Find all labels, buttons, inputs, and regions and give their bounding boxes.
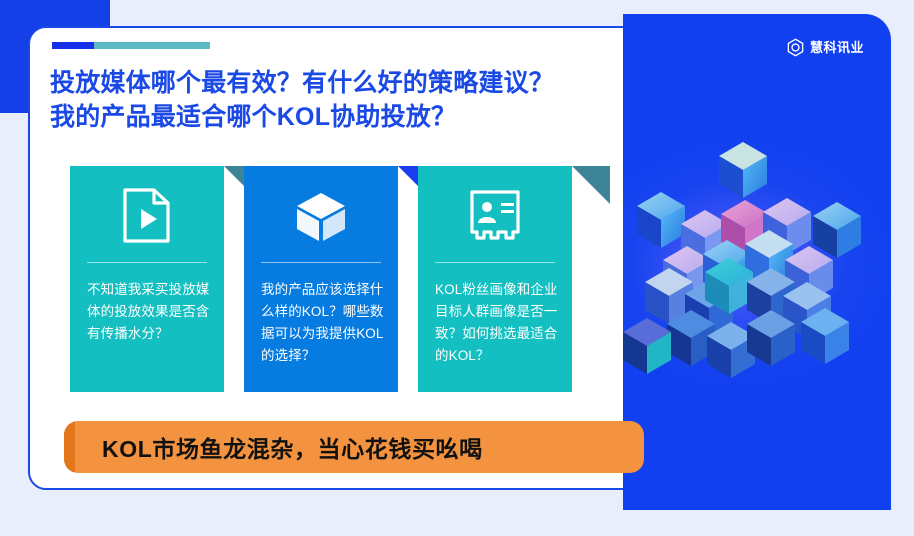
question-card-2-icon-wrap xyxy=(244,186,398,246)
accent-rule xyxy=(52,42,210,49)
question-card-3-text: KOL粉丝画像和企业目标人群画像是否一致？如何挑选最适合的KOL？ xyxy=(435,279,559,366)
question-card-2-divider xyxy=(261,262,381,263)
question-card-1: 不知道我采买投放媒体的投放效果是否含有传播水分？ xyxy=(70,166,224,392)
question-card-2: 我的产品应该选择什么样的KOL？哪些数据可以为我提供KOL的选择？ xyxy=(244,166,398,392)
question-card-2-text: 我的产品应该选择什么样的KOL？哪些数据可以为我提供KOL的选择？ xyxy=(261,279,385,366)
callout-banner: KOL市场鱼龙混杂，当心花钱买吆喝 xyxy=(64,421,644,473)
brand-logo: 慧科讯业 xyxy=(786,38,864,57)
question-card-list: 不知道我采买投放媒体的投放效果是否含有传播水分？ 我的产品应该选择什么样的KOL… xyxy=(70,166,572,392)
question-card-3-fold xyxy=(572,166,610,204)
question-card-1-icon-wrap xyxy=(70,186,224,246)
illustration-panel xyxy=(623,14,891,510)
page-title-line-2: 我的产品最适合哪个KOL协助投放？ xyxy=(50,101,650,135)
question-card-3-divider xyxy=(435,262,555,263)
callout-banner-edge xyxy=(64,421,75,473)
cube-box-icon xyxy=(292,187,350,245)
question-card-3: KOL粉丝画像和企业目标人群画像是否一致？如何挑选最适合的KOL？ xyxy=(418,166,572,392)
question-card-3-icon-wrap xyxy=(418,186,572,246)
question-card-1-divider xyxy=(87,262,207,263)
isometric-cube-cluster-icon xyxy=(623,140,891,412)
question-card-1-text: 不知道我采买投放媒体的投放效果是否含有传播水分？ xyxy=(87,279,211,345)
brand-logo-text: 慧科讯业 xyxy=(810,38,864,57)
callout-banner-text: KOL市场鱼龙混杂，当心花钱买吆喝 xyxy=(102,421,483,473)
video-document-icon xyxy=(121,187,173,245)
page-title: 投放媒体哪个最有效？有什么好的策略建议？ 我的产品最适合哪个KOL协助投放？ xyxy=(50,67,650,135)
page-title-line-1: 投放媒体哪个最有效？有什么好的策略建议？ xyxy=(50,67,650,101)
accent-rule-segment-b xyxy=(94,42,210,49)
hexagon-logo-icon xyxy=(786,38,805,57)
accent-rule-segment-a xyxy=(52,42,94,49)
id-card-profile-icon xyxy=(468,188,522,244)
